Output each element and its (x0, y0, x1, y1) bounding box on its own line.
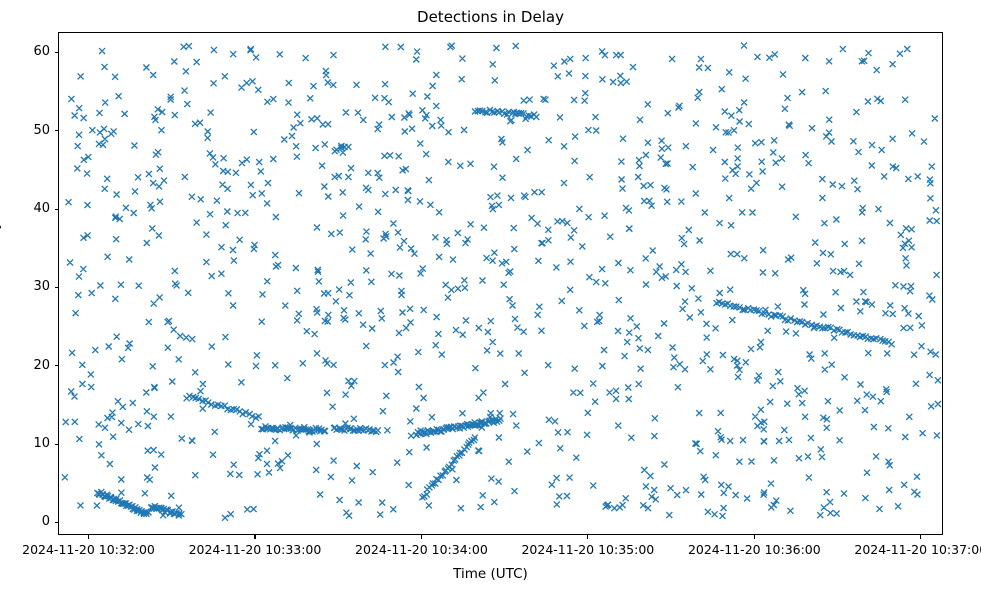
x-axis-tick-label: 2024-11-20 10:36:00 (674, 542, 834, 557)
y-axis-tick-label: 40 (4, 202, 50, 215)
x-axis-tick-label: 2024-11-20 10:37:00 (841, 542, 981, 557)
y-axis-tick-mark (55, 444, 59, 445)
x-axis-tick-mark (254, 535, 255, 539)
plot-axes (58, 32, 943, 535)
y-axis-tick-label: 50 (4, 124, 50, 137)
y-axis-label: Bistatic Delay (km) (0, 186, 2, 315)
x-axis-tick-label: 2024-11-20 10:32:00 (9, 542, 169, 557)
x-axis-label: Time (UTC) (0, 566, 981, 582)
y-axis-tick-mark (55, 130, 59, 131)
x-axis-tick-mark (88, 535, 89, 539)
y-axis-tick-label: 20 (4, 359, 50, 372)
x-axis-tick-mark (754, 535, 755, 539)
x-axis-tick-label: 2024-11-20 10:34:00 (341, 542, 501, 557)
y-axis-tick-mark (55, 52, 59, 53)
y-axis-tick-label: 10 (4, 437, 50, 450)
y-axis-tick-mark (55, 287, 59, 288)
y-axis-tick-mark (55, 522, 59, 523)
y-axis-tick-mark (55, 365, 59, 366)
page-title: Detections in Delay (0, 8, 981, 26)
y-axis-tick-label: 30 (4, 280, 50, 293)
y-axis-tick-mark (55, 209, 59, 210)
scatter-markers (62, 43, 941, 521)
x-axis-tick-mark (421, 535, 422, 539)
x-axis-tick-mark (587, 535, 588, 539)
scatter-plot-area (59, 33, 942, 534)
y-axis-tick-label: 0 (4, 515, 50, 528)
y-axis-tick-label: 60 (4, 45, 50, 58)
matplotlib-figure: Detections in Delay 0102030405060 2024-1… (0, 0, 981, 590)
scatter-series-detections (59, 33, 943, 535)
x-axis-tick-mark (920, 535, 921, 539)
x-axis-tick-label: 2024-11-20 10:35:00 (508, 542, 668, 557)
x-axis-tick-label: 2024-11-20 10:33:00 (175, 542, 335, 557)
